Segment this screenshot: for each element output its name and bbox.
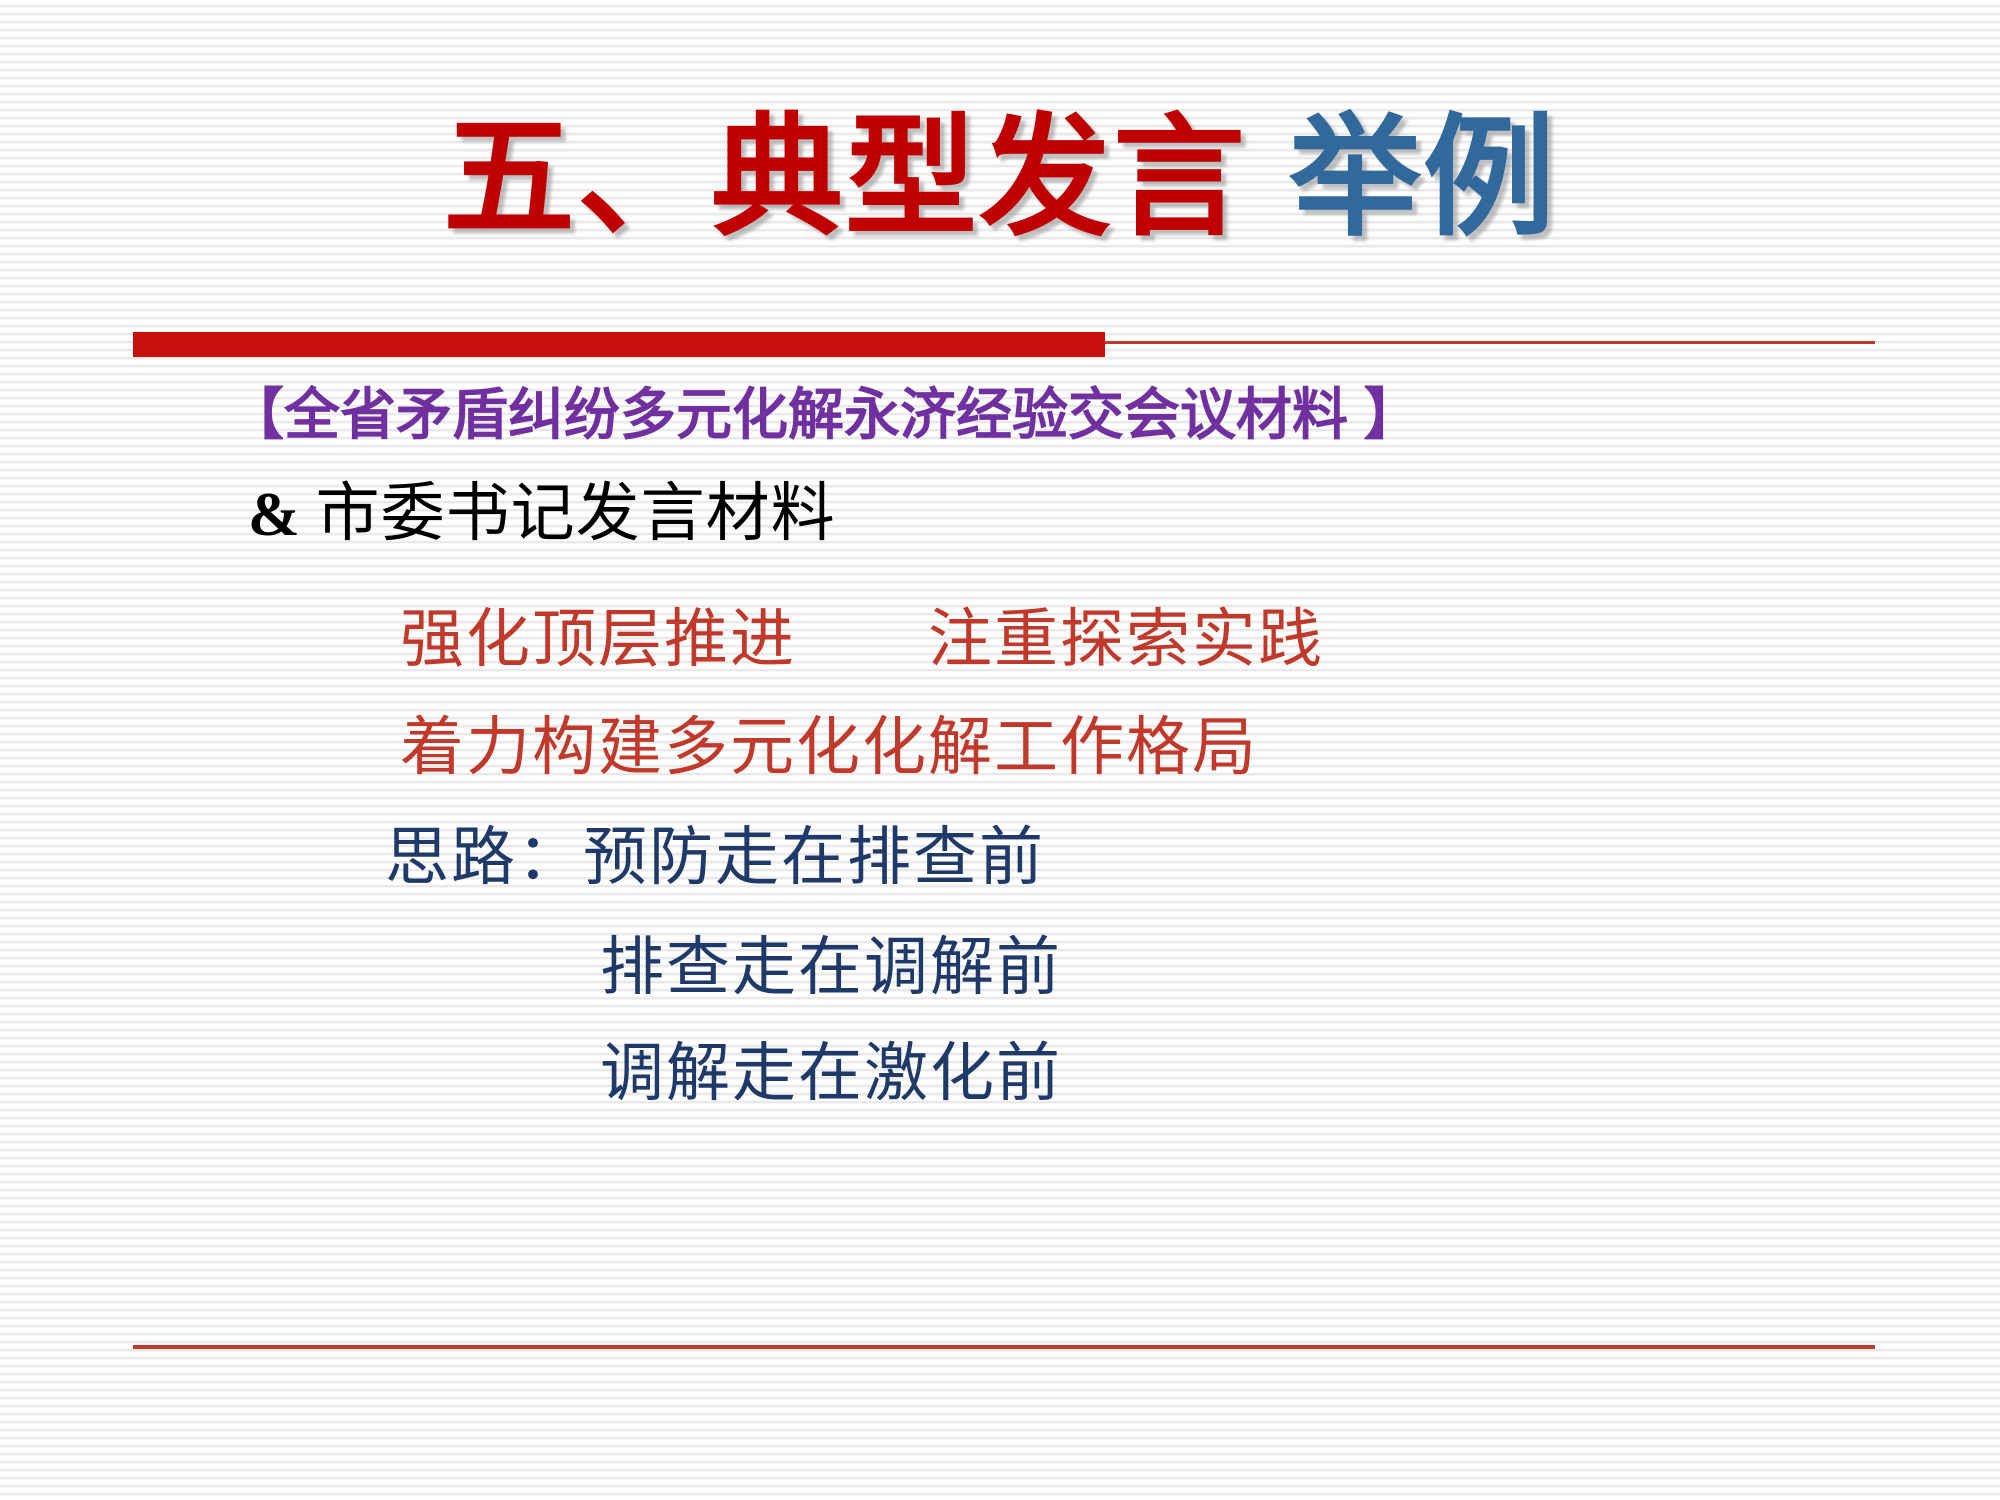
- blue-body-line-1: 思路：预防走在排查前: [385, 824, 1045, 891]
- red-body-line-2: 着力构建多元化化解工作格局: [400, 714, 1258, 781]
- blue-body-line-2: 排查走在调解前: [600, 934, 1062, 1001]
- blue-body-line-3: 调解走在激化前: [600, 1040, 1062, 1107]
- ampersand-bullet-icon: &: [248, 481, 300, 549]
- page-title: 五、典型发言 举例: [0, 112, 2000, 244]
- section-heading-label: 市委书记发言材料: [316, 478, 836, 549]
- red-body-line-1: 强化顶层推进 注重探索实践: [400, 606, 1324, 673]
- title-blue-segment: 举例: [1289, 104, 1557, 251]
- title-underline-thick: [133, 332, 1105, 357]
- slide-canvas: 五、典型发言 举例 【全省矛盾纠纷多元化解永济经验交会议材料 】 &市委书记发言…: [0, 0, 2000, 1500]
- title-red-segment: 五、典型发言: [443, 104, 1247, 251]
- footer-divider: [133, 1345, 1875, 1349]
- section-heading: &市委书记发言材料: [248, 480, 836, 548]
- subtitle-bracketed: 【全省矛盾纠纷多元化解永济经验交会议材料 】: [228, 385, 1420, 445]
